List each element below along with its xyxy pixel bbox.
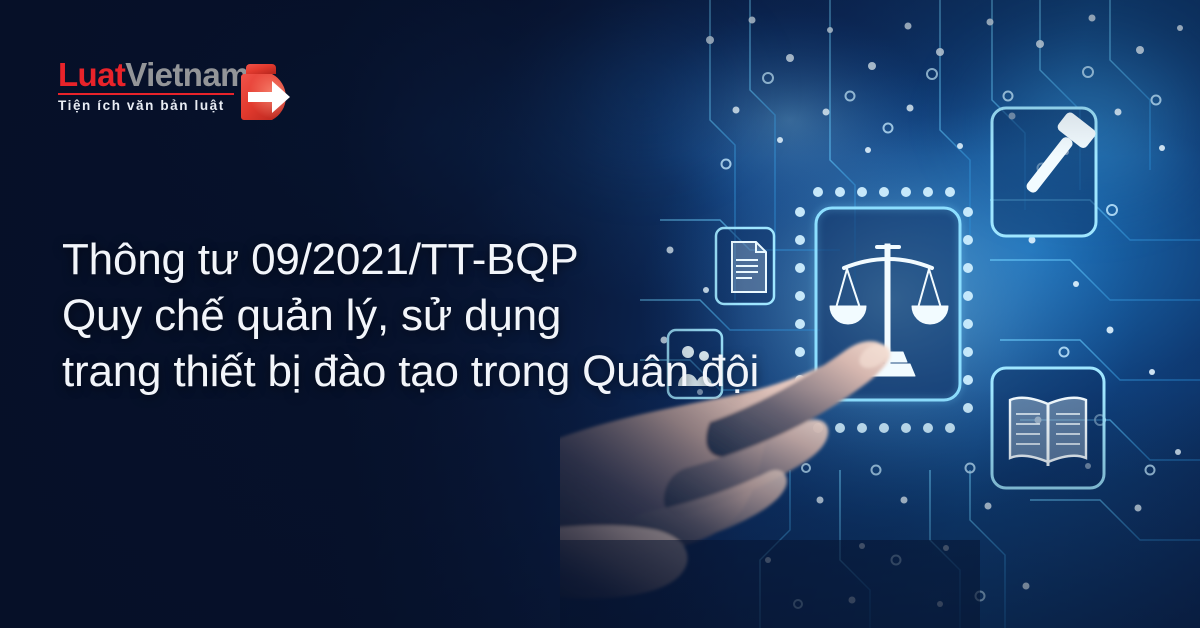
headline-line-3: trang thiết bị đào tạo trong Quân đội xyxy=(62,344,862,400)
logo-word-secondary: Vietnam xyxy=(125,56,249,93)
logo-underline-divider xyxy=(58,93,234,95)
banner-image: LuatVietnam Tiện ích văn bản luật xyxy=(0,0,1200,628)
logo-word-primary: Luat xyxy=(58,56,125,93)
red-folder-arrow-icon xyxy=(236,54,308,126)
luatvietnam-logo[interactable]: LuatVietnam Tiện ích văn bản luật xyxy=(58,58,308,136)
headline-line-1: Thông tư 09/2021/TT-BQP xyxy=(62,232,862,288)
headline-line-2: Quy chế quản lý, sử dụng xyxy=(62,288,862,344)
page-title: Thông tư 09/2021/TT-BQP Quy chế quản lý,… xyxy=(62,232,862,400)
